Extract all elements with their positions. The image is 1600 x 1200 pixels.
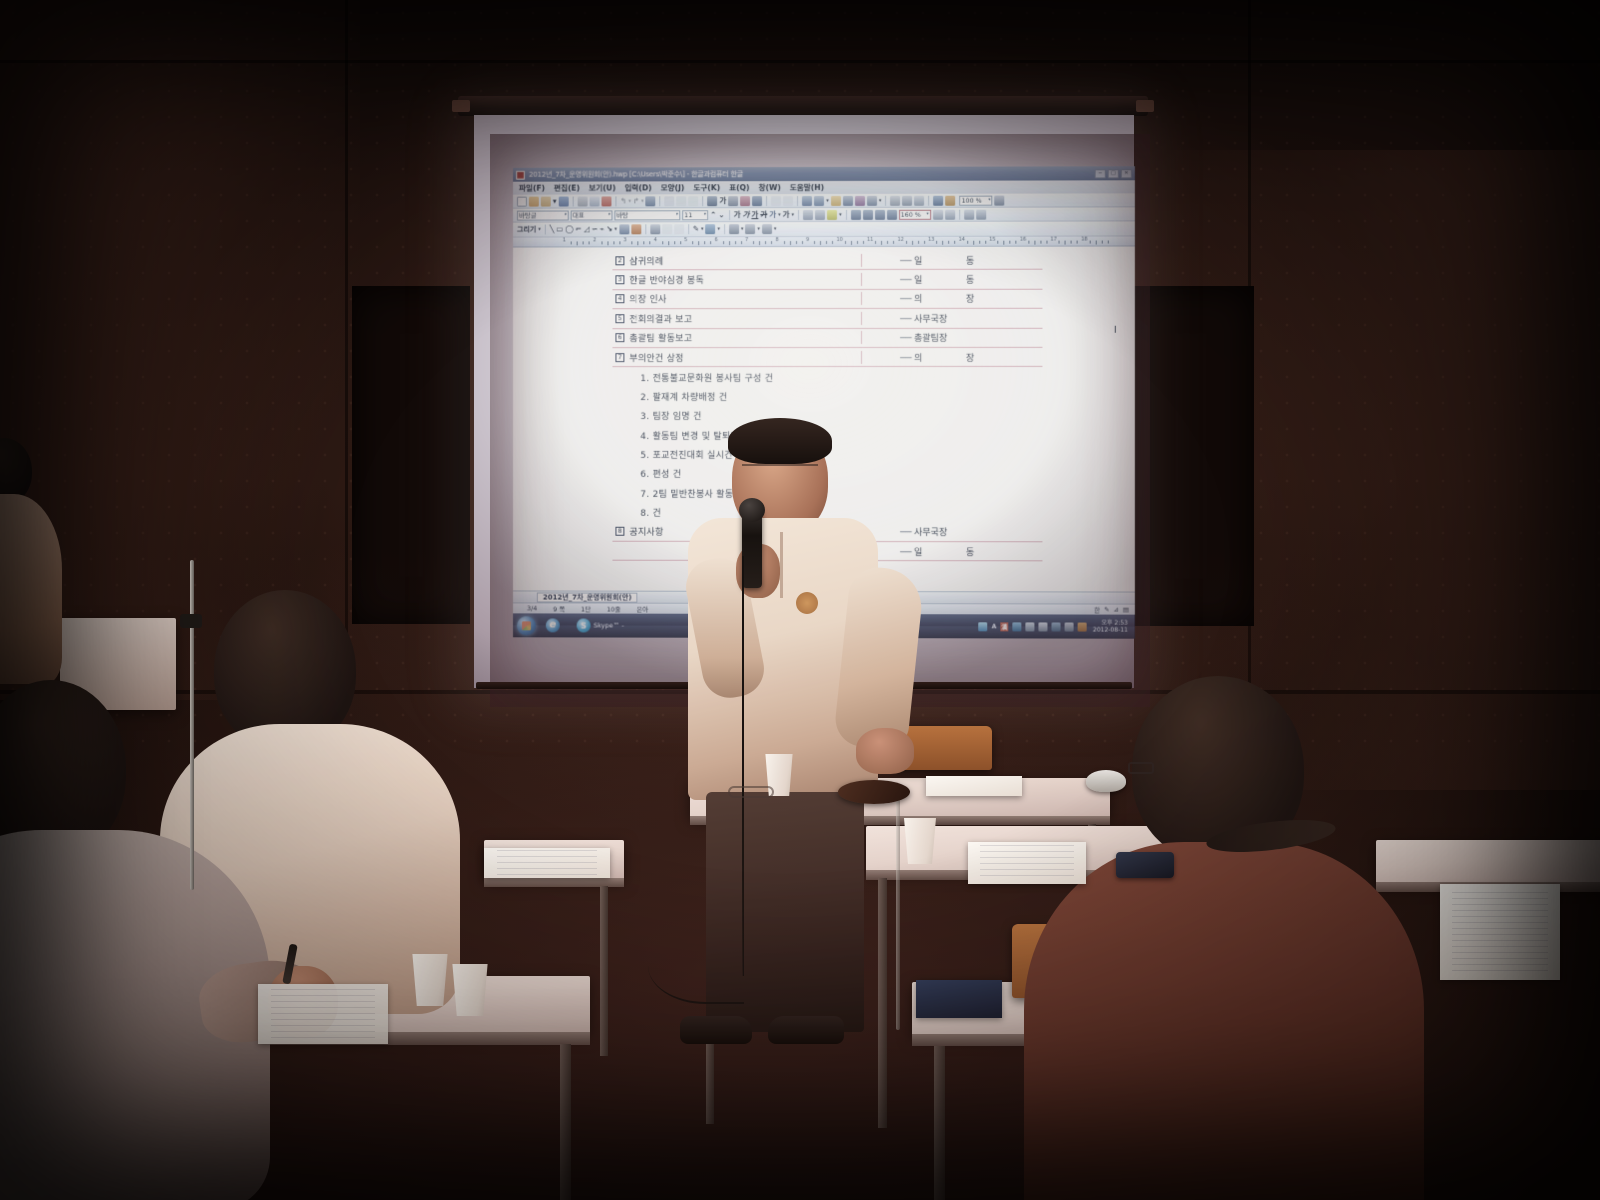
ruler-tick-label: 5 bbox=[684, 237, 687, 243]
header-footer-icon[interactable] bbox=[914, 195, 924, 205]
ruler-tick bbox=[571, 241, 572, 243]
microphone-cable bbox=[648, 940, 744, 1004]
textbox-icon[interactable] bbox=[619, 224, 629, 234]
agenda-actor-b: 동 bbox=[966, 253, 974, 266]
agenda-item-cell: 2삼귀의례 bbox=[612, 254, 862, 267]
screen-roller-cap-left bbox=[452, 100, 470, 112]
italic-icon[interactable]: 가 bbox=[743, 210, 750, 220]
ruler-tick bbox=[759, 241, 760, 245]
menu-item-file[interactable]: 파일(F) bbox=[519, 183, 545, 194]
table-icon[interactable] bbox=[752, 196, 762, 206]
agenda-sub-item-row: 3. 팀장 임명 건 bbox=[612, 406, 1042, 425]
agenda-number: 3 bbox=[615, 275, 624, 284]
print-preview-icon[interactable] bbox=[589, 196, 599, 206]
chevron-down-icon[interactable]: ▾ bbox=[608, 212, 610, 217]
superscript-icon[interactable]: 가 bbox=[783, 210, 790, 220]
zoom-level-combo[interactable]: 100 % ▾ bbox=[960, 195, 993, 205]
menu-item-input[interactable]: 입력(D) bbox=[625, 182, 652, 193]
hwp-app-icon bbox=[516, 170, 525, 179]
ruler-tick bbox=[820, 241, 821, 245]
network-icon[interactable] bbox=[1026, 622, 1035, 631]
agenda-sub-item-text: 2. 팔재계 차량배정 건 bbox=[612, 390, 727, 403]
shirt-placket bbox=[780, 532, 783, 598]
ruler-tick bbox=[881, 241, 882, 245]
ruler-tick bbox=[967, 241, 968, 244]
agenda-number: 5 bbox=[615, 314, 624, 323]
pdf-icon[interactable] bbox=[601, 196, 611, 206]
pencil-icon[interactable]: ✎ bbox=[693, 224, 699, 234]
ruler-tick bbox=[692, 241, 693, 243]
ruler-tick bbox=[644, 241, 645, 243]
drawing-dropdown-icon[interactable]: ▾ bbox=[538, 225, 541, 235]
new-document-icon[interactable] bbox=[517, 196, 527, 206]
chevron-down-icon[interactable]: ▾ bbox=[926, 212, 928, 217]
meeting-room: 2012년_7차_운영위원회(안).hwp [C:\Users\박준수\] - … bbox=[0, 0, 1600, 1200]
align-right-icon[interactable] bbox=[875, 209, 885, 219]
zoom-fit-icon[interactable]: ⊿ bbox=[1113, 605, 1118, 614]
printed-handout bbox=[926, 776, 1022, 796]
ruler-tick bbox=[662, 241, 663, 243]
ruler-tick-label: 7 bbox=[745, 237, 748, 243]
drawing-toolbar[interactable]: 그리기 ▾ ╲ ▭ ◯ ⌐ ◿ ∽ ⌁ ↘ ▾ bbox=[513, 221, 1135, 237]
font-size-combo[interactable]: 11 ▾ bbox=[682, 210, 708, 220]
microphone-stand bbox=[190, 560, 194, 890]
menu-bar[interactable]: 파일(F) 편집(E) 보기(U) 입력(D) 모양(J) 도구(K) 표(Q)… bbox=[513, 180, 1135, 194]
ruler-tick-label: 12 bbox=[898, 237, 904, 243]
ruler-tick bbox=[698, 241, 699, 245]
para-shape-icon[interactable] bbox=[728, 196, 738, 206]
ruler-tick bbox=[735, 241, 736, 243]
desk-leg bbox=[934, 1046, 945, 1200]
print-icon[interactable] bbox=[577, 196, 587, 206]
ruler-tick-label: 9 bbox=[806, 237, 809, 243]
agenda-label: 총괄팀 활동보고 bbox=[629, 331, 692, 344]
drawing-toolbar-label[interactable]: 그리기 bbox=[517, 225, 536, 235]
agenda-row: 6총괄팀 활동보고------총괄팀장 bbox=[612, 328, 1042, 348]
wall-seam bbox=[345, 0, 348, 700]
ruler-tick bbox=[832, 241, 833, 244]
notebook bbox=[916, 980, 1002, 1018]
threed-icon[interactable] bbox=[762, 224, 772, 234]
ruler-tick-label: 17 bbox=[1050, 237, 1056, 243]
taskbar-skype-label: Skype™ - bbox=[594, 622, 624, 630]
defender-icon[interactable] bbox=[1052, 622, 1061, 631]
line-spacing-wide-icon[interactable] bbox=[815, 209, 825, 219]
agenda-actor: 사무국장 bbox=[914, 312, 976, 325]
handout-text-lines bbox=[271, 989, 375, 1039]
agenda-actor: 총괄팀장 bbox=[914, 331, 976, 344]
menu-item-edit[interactable]: 편집(E) bbox=[554, 183, 580, 194]
taskbar-item-internet-explorer[interactable]: e bbox=[542, 616, 567, 635]
highlight-icon[interactable] bbox=[827, 209, 837, 219]
microphone-head bbox=[739, 498, 765, 522]
subscript-dropdown-icon[interactable]: ▾ bbox=[792, 210, 795, 220]
ruler-tick bbox=[814, 241, 815, 244]
menu-item-tools[interactable]: 도구(K) bbox=[693, 182, 720, 193]
drawing-icon[interactable] bbox=[831, 195, 841, 205]
ruler-tick bbox=[577, 241, 578, 245]
arrow-dropdown-icon[interactable]: ▾ bbox=[615, 224, 618, 234]
clock-date: 2012-08-11 bbox=[1093, 627, 1128, 634]
recent-folder-icon[interactable] bbox=[541, 196, 551, 206]
shoe-right bbox=[768, 1016, 844, 1044]
ruler-tick bbox=[875, 241, 876, 244]
ruler-tick bbox=[607, 241, 608, 245]
style-combo[interactable]: 바탕글 ▾ bbox=[517, 210, 569, 220]
agenda-label: 삼귀의례 bbox=[629, 254, 663, 267]
ruler-tick bbox=[729, 241, 730, 245]
wall-seam bbox=[0, 60, 1600, 63]
ruler-tick bbox=[1108, 241, 1109, 244]
security-icon[interactable] bbox=[1012, 622, 1021, 631]
ruler-tick-label: 16 bbox=[1020, 237, 1026, 243]
ruler-tick bbox=[997, 241, 998, 244]
hair bbox=[728, 418, 832, 464]
indent-decrease-icon[interactable] bbox=[933, 209, 943, 219]
prayer-beads bbox=[838, 780, 910, 804]
agenda-leader-dots: ------ bbox=[862, 314, 914, 323]
ruler-tick-label: 8 bbox=[776, 237, 779, 243]
agenda-actor-a: 사무국장 bbox=[914, 525, 947, 538]
style-value: 바탕글 bbox=[519, 211, 537, 220]
indent-increase-icon[interactable] bbox=[945, 209, 955, 219]
group-icon[interactable] bbox=[662, 224, 672, 234]
ruler-tick bbox=[948, 241, 949, 244]
agenda-actor: 일동 bbox=[914, 545, 976, 558]
underline-icon[interactable]: 가 bbox=[751, 210, 758, 220]
agenda-actor-a: 총괄팀장 bbox=[914, 331, 947, 344]
font-combo[interactable]: 바탕 ▾ bbox=[614, 210, 680, 220]
close-button[interactable]: ✕ bbox=[1121, 169, 1132, 178]
polygon-icon[interactable]: ◿ bbox=[584, 224, 590, 234]
align-center-icon[interactable] bbox=[863, 209, 873, 219]
torso bbox=[1024, 842, 1424, 1200]
ruler-tick bbox=[674, 241, 675, 243]
format-toolbar[interactable]: 바탕글 ▾ 대표 ▾ 바탕 ▾ 11 ▾ ⌃ bbox=[513, 207, 1135, 222]
ruler-tick bbox=[790, 241, 791, 245]
align-justify-icon[interactable] bbox=[887, 209, 897, 219]
spellcheck-icon[interactable] bbox=[933, 195, 943, 205]
agenda-actor-a: 사무국장 bbox=[914, 312, 947, 325]
agenda-row: 7부의안건 상정------의장 bbox=[612, 348, 1042, 368]
arrow-icon[interactable]: ↘ bbox=[606, 224, 612, 234]
ruler-tick bbox=[619, 241, 620, 243]
system-tray[interactable]: A 漢 오후 2:53 2012-08-11 bbox=[979, 619, 1131, 633]
align-left-icon[interactable] bbox=[851, 209, 861, 219]
status-line: 10줄 bbox=[607, 604, 621, 613]
agenda-actor: 사무국장 bbox=[914, 525, 976, 538]
ruler-tick-label: 14 bbox=[959, 237, 965, 243]
microphone-stand bbox=[896, 800, 900, 1030]
desk-leg bbox=[878, 878, 887, 1128]
chevron-down-icon[interactable]: ▾ bbox=[704, 212, 706, 217]
menu-item-window[interactable]: 창(W) bbox=[759, 182, 781, 193]
line-spacing-combo[interactable]: 160 % ▾ bbox=[899, 209, 931, 219]
number-list-icon[interactable] bbox=[976, 209, 986, 219]
agenda-actor-b: 장 bbox=[966, 292, 974, 305]
frame-combo[interactable]: 대표 ▾ bbox=[571, 210, 613, 220]
ruler-tick bbox=[1028, 241, 1029, 244]
eyeglasses bbox=[742, 464, 818, 479]
taskbar-item-skype[interactable]: S Skype™ - bbox=[573, 616, 628, 635]
bold-icon[interactable]: 가 bbox=[734, 210, 741, 220]
ruler-tick bbox=[784, 241, 785, 244]
ruler-tick bbox=[680, 241, 681, 243]
agenda-sub-item-row: 2. 팔재계 차량배정 건 bbox=[612, 387, 1042, 406]
show-hidden-icon[interactable] bbox=[979, 622, 988, 631]
ruler-tick bbox=[1065, 241, 1066, 245]
agenda-item-cell: 6총괄팀 활동보고 bbox=[612, 331, 862, 344]
footnote-icon[interactable] bbox=[867, 195, 877, 205]
status-section: 9 쪽 bbox=[553, 604, 565, 613]
flash-icon[interactable] bbox=[1078, 622, 1087, 631]
column-icon[interactable] bbox=[902, 195, 912, 205]
ruler-tick bbox=[845, 241, 846, 244]
ungroup-icon[interactable] bbox=[674, 224, 684, 234]
rectangle-icon[interactable]: ▭ bbox=[556, 224, 563, 234]
start-orb-icon[interactable] bbox=[517, 616, 536, 635]
chevron-down-icon[interactable]: ▾ bbox=[564, 213, 566, 218]
menu-item-view[interactable]: 보기(U) bbox=[589, 182, 616, 193]
ime-korean-A-icon[interactable]: A bbox=[992, 623, 997, 630]
object-select-icon[interactable] bbox=[771, 196, 781, 206]
ruler-tick-label: 15 bbox=[989, 237, 995, 243]
shirt-emblem bbox=[796, 592, 818, 614]
arc-icon[interactable]: ⌐ bbox=[575, 224, 581, 234]
agenda-item-cell: 3한글 반야심경 봉독 bbox=[612, 273, 862, 286]
agenda-table: 2삼귀의례------일동3한글 반야심경 봉독------일동4의장 인사--… bbox=[612, 251, 1042, 562]
ruler-tick bbox=[1034, 241, 1035, 245]
ruler-tick bbox=[863, 241, 864, 244]
pencil-dropdown-icon[interactable]: ▾ bbox=[701, 224, 704, 234]
ruler-tick bbox=[711, 241, 712, 243]
font-size-increase-icon[interactable]: ⌃ bbox=[710, 210, 716, 220]
menu-item-help[interactable]: 도움말(H) bbox=[790, 182, 824, 193]
shadow-dropdown-icon[interactable]: ▾ bbox=[757, 224, 760, 234]
font-value: 바탕 bbox=[616, 210, 628, 219]
ruler-tick bbox=[893, 241, 894, 244]
shoe-left bbox=[680, 1016, 752, 1044]
line-spacing-value: 160 % bbox=[901, 210, 921, 218]
agenda-actor-a: 의 bbox=[914, 351, 922, 364]
object-order-icon[interactable] bbox=[650, 224, 660, 234]
printed-handout bbox=[1440, 884, 1560, 980]
windows-flag-icon bbox=[522, 621, 531, 630]
crop-icon[interactable] bbox=[783, 196, 793, 206]
ruler-tick-label: 11 bbox=[867, 237, 873, 243]
window-controls[interactable]: − □ ✕ bbox=[1095, 169, 1132, 178]
agenda-actor: 일동 bbox=[914, 273, 976, 286]
copy-icon[interactable] bbox=[677, 196, 687, 206]
memo-icon[interactable] bbox=[855, 195, 865, 205]
ruler-tick bbox=[631, 241, 632, 243]
picture-insert-icon[interactable] bbox=[631, 224, 641, 234]
paste-icon[interactable] bbox=[689, 196, 699, 206]
cut-icon[interactable] bbox=[665, 196, 675, 206]
ruler-tick bbox=[589, 241, 590, 243]
zoom-magnifier-icon[interactable] bbox=[995, 195, 1005, 205]
minimize-button[interactable]: − bbox=[1095, 169, 1106, 178]
line-spacing-narrow-icon[interactable] bbox=[803, 210, 813, 220]
ruler-tick-label: 13 bbox=[928, 237, 934, 243]
agenda-sub-item-text: 6. 편성 건 bbox=[612, 467, 681, 480]
screen-roller-bar bbox=[458, 96, 1148, 116]
agenda-sub-item-text: 1. 전통불교문화원 봉사팀 구성 건 bbox=[612, 371, 773, 384]
agenda-sub-item-text: 7. 2팀 밑반찬봉사 활동 bbox=[612, 487, 733, 500]
ruler-tick bbox=[741, 241, 742, 243]
agenda-actor-b: 장 bbox=[966, 351, 974, 364]
document-tab[interactable]: 2012년_7차_운영위원회(안) bbox=[537, 592, 638, 602]
agenda-leader-dots: ------ bbox=[862, 256, 914, 265]
agenda-sub-item-text: 8. 건 bbox=[612, 506, 661, 519]
outline-icon[interactable]: 가 bbox=[769, 210, 776, 220]
overwrite-icon[interactable]: ▤ bbox=[1123, 605, 1129, 614]
find-icon[interactable] bbox=[646, 196, 656, 206]
chart-dropdown-icon[interactable]: ▾ bbox=[826, 195, 829, 205]
ruler-tick bbox=[924, 241, 925, 244]
ruler-tick-label: 4 bbox=[654, 237, 657, 243]
fill-color-icon[interactable] bbox=[706, 224, 716, 234]
printed-handout bbox=[484, 848, 610, 878]
agenda-actor: 의장 bbox=[914, 292, 976, 305]
agenda-row: 4의장 인사------의장 bbox=[612, 290, 1042, 310]
printed-handout bbox=[968, 842, 1086, 884]
agenda-actor-a: 일 bbox=[914, 273, 922, 286]
agenda-label: 공지사항 bbox=[629, 525, 663, 538]
agenda-actor: 의장 bbox=[914, 351, 976, 364]
shape-status-icon[interactable]: ✎ bbox=[1104, 605, 1109, 614]
agenda-item-cell: 5전회의결과 보고 bbox=[612, 312, 862, 325]
ruler-tick bbox=[583, 241, 584, 243]
ruler-tick bbox=[1077, 241, 1078, 244]
window-title-text: 2012년_7차_운영위원회(안).hwp [C:\Users\박준수\] - … bbox=[529, 169, 743, 179]
ellipse-icon[interactable]: ◯ bbox=[565, 224, 573, 234]
style-icon[interactable] bbox=[740, 196, 750, 206]
agenda-leader-dots: ------ bbox=[862, 333, 914, 342]
font-size-decrease-icon[interactable]: ⌄ bbox=[718, 210, 724, 220]
chevron-down-icon[interactable]: ▾ bbox=[988, 198, 990, 203]
ruler-tick bbox=[638, 241, 639, 245]
ruler-tick bbox=[887, 241, 888, 244]
ime-hanja-icon[interactable]: 漢 bbox=[1000, 622, 1008, 631]
frame-value: 대표 bbox=[573, 210, 585, 219]
clock-time: 오후 2:53 bbox=[1101, 620, 1128, 627]
ruler-tick bbox=[668, 241, 669, 245]
highlight-dropdown-icon[interactable]: ▾ bbox=[839, 209, 842, 219]
picture-icon[interactable] bbox=[802, 196, 812, 206]
text-cursor: I bbox=[1114, 325, 1117, 336]
ruler-tick bbox=[1059, 241, 1060, 244]
dropdown-caret-icon[interactable]: ▾ bbox=[553, 196, 557, 206]
ruler-tick bbox=[704, 241, 705, 243]
ruler-tick-label: 2 bbox=[593, 237, 596, 243]
hanja-convert-icon[interactable] bbox=[945, 195, 955, 205]
ruler-tick bbox=[942, 241, 943, 245]
skype-icon: S bbox=[577, 618, 591, 632]
shadow-icon[interactable] bbox=[745, 224, 755, 234]
agenda-item-cell: 7부의안건 상정 bbox=[612, 351, 862, 364]
maximize-button[interactable]: □ bbox=[1108, 169, 1119, 178]
threed-dropdown-icon[interactable]: ▾ bbox=[774, 224, 777, 234]
chart-icon[interactable] bbox=[814, 195, 824, 205]
eyeglasses bbox=[728, 786, 774, 798]
computer-mouse[interactable] bbox=[1086, 770, 1126, 792]
fill-dropdown-icon[interactable]: ▾ bbox=[717, 224, 720, 234]
bullet-list-icon[interactable] bbox=[964, 209, 974, 219]
redo-dropdown-icon[interactable]: ▾ bbox=[641, 196, 644, 206]
chevron-down-icon[interactable]: ▾ bbox=[676, 212, 678, 217]
open-folder-icon[interactable] bbox=[529, 196, 539, 206]
undo-icon[interactable]: ↰ bbox=[620, 196, 626, 206]
ruler-tick bbox=[650, 241, 651, 243]
taskbar-clock[interactable]: 오후 2:53 2012-08-11 bbox=[1091, 620, 1128, 634]
redo-icon[interactable]: ↱ bbox=[633, 196, 639, 206]
ruler-tick-label: 1 bbox=[563, 237, 566, 243]
format-brush-icon[interactable] bbox=[708, 196, 718, 206]
desk-leg bbox=[600, 886, 608, 1056]
ruler-tick bbox=[1016, 241, 1017, 244]
agenda-sub-item-row: 1. 전통불교문화원 봉사팀 구성 건 bbox=[612, 367, 1042, 387]
handout-text-lines bbox=[497, 850, 598, 875]
ruler-tick bbox=[973, 241, 974, 245]
screen-roller-cap-right bbox=[1136, 100, 1154, 112]
mobile-phone[interactable] bbox=[1116, 852, 1174, 878]
updates-icon[interactable] bbox=[1065, 622, 1074, 631]
ruler-tick bbox=[1046, 241, 1047, 244]
agenda-label: 의장 인사 bbox=[629, 293, 666, 306]
window-title-bar: 2012년_7차_운영위원회(안).hwp [C:\Users\박준수\] - … bbox=[513, 166, 1135, 181]
agenda-actor-a: 의 bbox=[914, 292, 922, 305]
agenda-number: 6 bbox=[615, 333, 624, 342]
agenda-sub-item-text: 3. 팀장 임명 건 bbox=[612, 409, 701, 422]
freeform-icon[interactable]: ⌁ bbox=[600, 224, 604, 234]
agenda-leader-dots: ------ bbox=[862, 353, 914, 362]
handout-text-lines bbox=[980, 845, 1074, 880]
ruler-tick bbox=[613, 241, 614, 243]
undo-dropdown-icon[interactable]: ▾ bbox=[628, 196, 631, 206]
line-style-icon[interactable] bbox=[729, 224, 739, 234]
char-shape-icon[interactable]: 가 bbox=[720, 196, 727, 206]
standard-toolbar[interactable]: ▾ ↰ ▾ ↱ ▾ bbox=[513, 193, 1135, 208]
agenda-number: 8 bbox=[615, 527, 624, 536]
hyperlink-icon[interactable] bbox=[843, 195, 853, 205]
ruler-tick bbox=[851, 241, 852, 245]
menu-item-shape[interactable]: 모양(J) bbox=[661, 182, 685, 193]
strikethrough-icon[interactable]: 가 bbox=[760, 210, 767, 220]
korean-input-icon[interactable]: 한 bbox=[1094, 605, 1100, 614]
line-style-dropdown-icon[interactable]: ▾ bbox=[741, 224, 744, 234]
volume-icon[interactable] bbox=[1039, 622, 1048, 631]
agenda-leader-dots: ------ bbox=[862, 275, 914, 284]
microphone-cable bbox=[742, 556, 744, 976]
wall-alcove-left bbox=[352, 286, 470, 624]
agenda-leader-dots: ------ bbox=[862, 294, 914, 303]
line-icon[interactable]: ╲ bbox=[550, 225, 554, 235]
ruler-tick bbox=[753, 241, 754, 243]
menu-item-table[interactable]: 표(Q) bbox=[729, 182, 749, 193]
save-icon[interactable] bbox=[558, 196, 568, 206]
curve-icon[interactable]: ∽ bbox=[591, 224, 597, 234]
footnote-dropdown-icon[interactable]: ▾ bbox=[879, 195, 882, 205]
agenda-row: 2삼귀의례------일동 bbox=[612, 251, 1042, 271]
ruler-tick bbox=[918, 241, 919, 244]
agenda-label: 한글 반야심경 봉독 bbox=[629, 273, 704, 286]
ruler-tick bbox=[1040, 241, 1041, 244]
page-setup-icon[interactable] bbox=[890, 195, 900, 205]
font-size-value: 11 bbox=[684, 211, 692, 219]
status-column: 1단 bbox=[581, 604, 591, 613]
font-color-dropdown-icon[interactable]: ▾ bbox=[778, 210, 781, 220]
